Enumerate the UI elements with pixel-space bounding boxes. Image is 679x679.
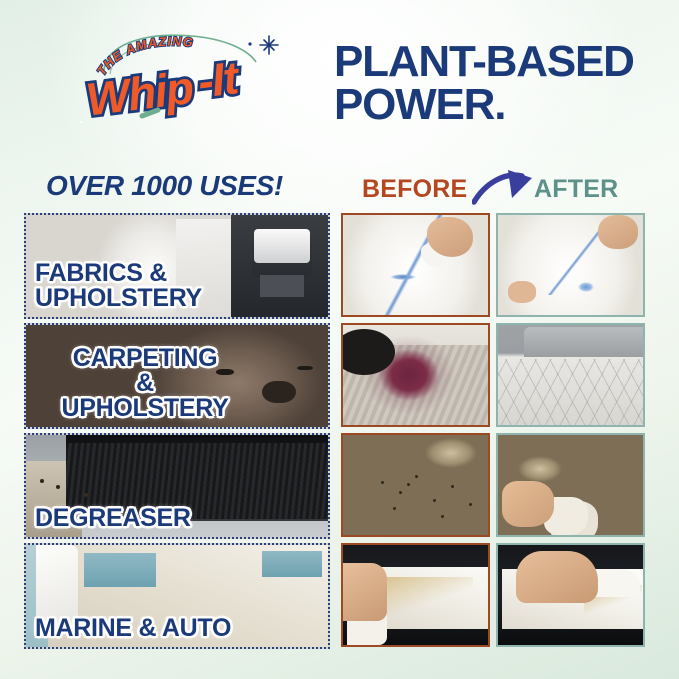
headline-line-1: PLANT-BASED xyxy=(334,37,634,86)
use-panel-degreaser: DEGREASER xyxy=(24,433,330,539)
after-cell-carpeting xyxy=(496,323,645,427)
poster-canvas: THE AMAZING Whip -It xyxy=(0,0,679,679)
whip-it-logo: THE AMAZING Whip -It xyxy=(80,30,280,122)
wiping-stovetop-photo xyxy=(498,435,643,535)
greasy-stovetop-photo xyxy=(343,435,488,535)
whip-it-logo-icon: THE AMAZING Whip -It xyxy=(80,30,280,122)
clean-carpet-sofa-photo xyxy=(498,325,643,425)
comparison-row-carpeting xyxy=(341,323,655,433)
use-label-carpeting: CARPETING & UPHOLSTERY xyxy=(35,346,255,421)
after-cell-fabrics xyxy=(496,213,645,317)
use-label-marine-auto: MARINE & AUTO xyxy=(35,616,231,641)
use-panel-marine-auto: MARINE & AUTO xyxy=(24,543,330,649)
shirt-ink-stain-photo xyxy=(343,215,488,315)
poster-header: THE AMAZING Whip -It xyxy=(0,0,679,152)
before-cell-marine-auto xyxy=(341,543,490,647)
headline-line-2: POWER. xyxy=(334,83,664,126)
svg-text:-It: -It xyxy=(195,51,243,108)
cleaned-panel-photo xyxy=(498,545,643,645)
before-cell-carpeting xyxy=(341,323,490,427)
after-cell-degreaser xyxy=(496,433,645,537)
before-label: BEFORE xyxy=(362,175,467,204)
comparison-row-degreaser xyxy=(341,433,655,543)
shirt-cleaned-photo xyxy=(498,215,643,315)
before-after-grid xyxy=(341,213,655,653)
after-label: AFTER xyxy=(534,175,618,204)
use-panel-carpeting: CARPETING & UPHOLSTERY xyxy=(24,323,330,429)
use-panel-fabrics: FABRICS & UPHOLSTERY xyxy=(24,213,330,319)
uses-column: FABRICS & UPHOLSTERY CARPETING & UPHOLST… xyxy=(24,213,330,653)
after-cell-marine-auto xyxy=(496,543,645,647)
page-title: PLANT-BASED POWER. xyxy=(334,40,664,126)
use-label-degreaser: DEGREASER xyxy=(35,506,191,531)
before-after-header: BEFORE AFTER xyxy=(362,172,652,206)
before-cell-degreaser xyxy=(341,433,490,537)
comparison-row-marine-auto xyxy=(341,543,655,653)
over-1000-uses-title: OVER 1000 USES! xyxy=(46,170,283,202)
stained-panel-photo xyxy=(343,545,488,645)
wine-stain-carpet-photo xyxy=(343,325,488,425)
use-label-fabrics: FABRICS & UPHOLSTERY xyxy=(35,261,202,311)
before-cell-fabrics xyxy=(341,213,490,317)
comparison-row-fabrics xyxy=(341,213,655,323)
